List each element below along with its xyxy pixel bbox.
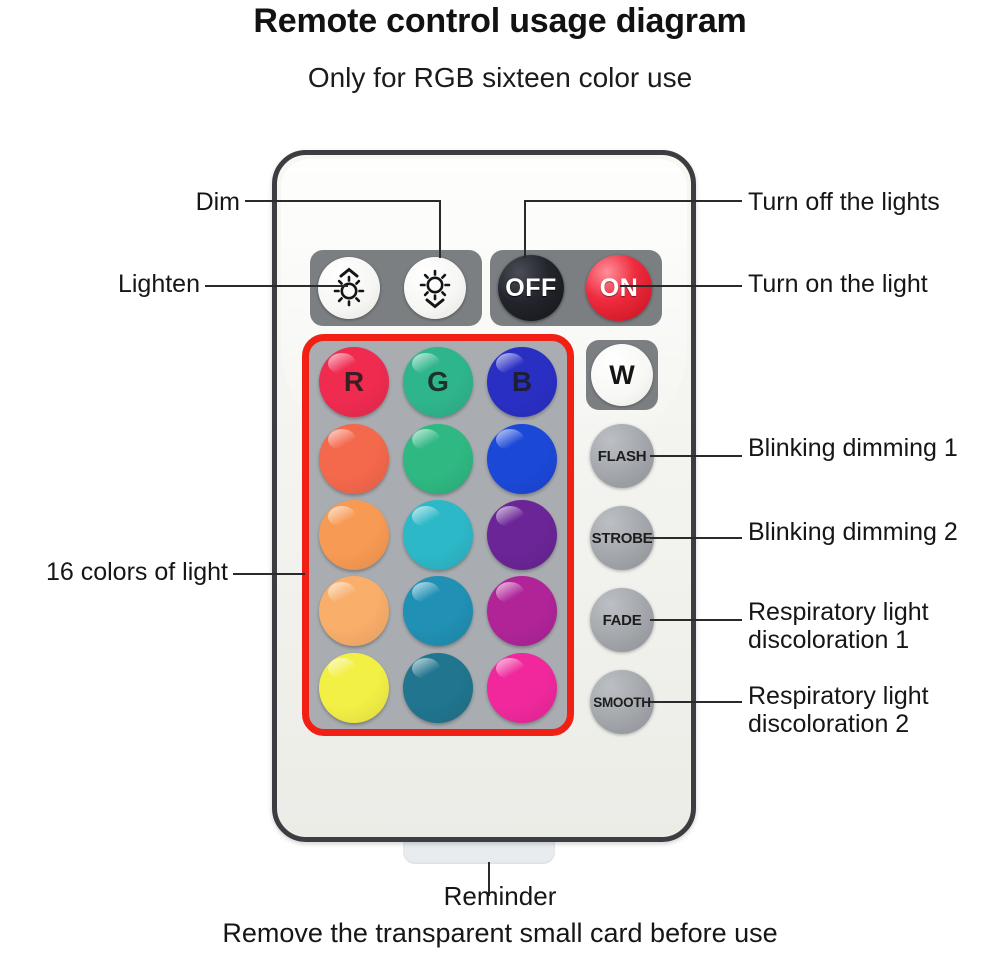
color-button-7[interactable]	[319, 500, 389, 570]
strobe-button[interactable]: STROBE	[590, 506, 654, 570]
reminder-text: Remove the transparent small card before…	[0, 918, 1000, 948]
color-button-6[interactable]	[487, 424, 557, 494]
color-button-8[interactable]	[403, 500, 473, 570]
callout-turn-off: Turn off the lights	[748, 188, 940, 216]
on-button[interactable]: ON	[586, 255, 652, 321]
color-button-5[interactable]	[403, 424, 473, 494]
color-button-label: R	[344, 366, 364, 398]
color-button-b[interactable]: B	[487, 347, 557, 417]
color-button-15[interactable]	[487, 653, 557, 723]
reminder-title: Reminder	[0, 882, 1000, 911]
page-subtitle: Only for RGB sixteen color use	[0, 62, 1000, 94]
callout-blinking-2: Blinking dimming 2	[748, 518, 958, 546]
lighten-button[interactable]	[318, 257, 380, 319]
color-button-12[interactable]	[487, 576, 557, 646]
diagram-canvas: Remote control usage diagram Only for RG…	[0, 0, 1000, 959]
white-button[interactable]: W	[591, 344, 653, 406]
color-button-9[interactable]	[487, 500, 557, 570]
color-button-13[interactable]	[319, 653, 389, 723]
callout-respiratory-1: Respiratory light discoloration 1	[748, 598, 1000, 654]
color-button-14[interactable]	[403, 653, 473, 723]
color-grid[interactable]: RGB	[312, 344, 564, 726]
fade-button[interactable]: FADE	[590, 588, 654, 652]
color-button-r[interactable]: R	[319, 347, 389, 417]
off-button[interactable]: OFF	[498, 255, 564, 321]
color-button-11[interactable]	[403, 576, 473, 646]
color-button-label: G	[427, 366, 449, 398]
sun-up-icon	[326, 265, 372, 311]
dim-button[interactable]	[404, 257, 466, 319]
color-button-label: B	[512, 366, 532, 398]
color-button-10[interactable]	[319, 576, 389, 646]
page-title: Remote control usage diagram	[0, 2, 1000, 41]
color-button-g[interactable]: G	[403, 347, 473, 417]
callout-turn-on: Turn on the light	[748, 270, 928, 298]
sun-down-icon	[412, 265, 458, 311]
callout-respiratory-2: Respiratory light discoloration 2	[748, 682, 1000, 738]
color-button-4[interactable]	[319, 424, 389, 494]
callout-lighten: Lighten	[0, 270, 200, 298]
callout-blinking-1: Blinking dimming 1	[748, 434, 958, 462]
callout-dim: Dim	[0, 188, 240, 216]
smooth-button[interactable]: SMOOTH	[590, 670, 654, 734]
callout-sixteen-colors: 16 colors of light	[0, 558, 228, 586]
flash-button[interactable]: FLASH	[590, 424, 654, 488]
